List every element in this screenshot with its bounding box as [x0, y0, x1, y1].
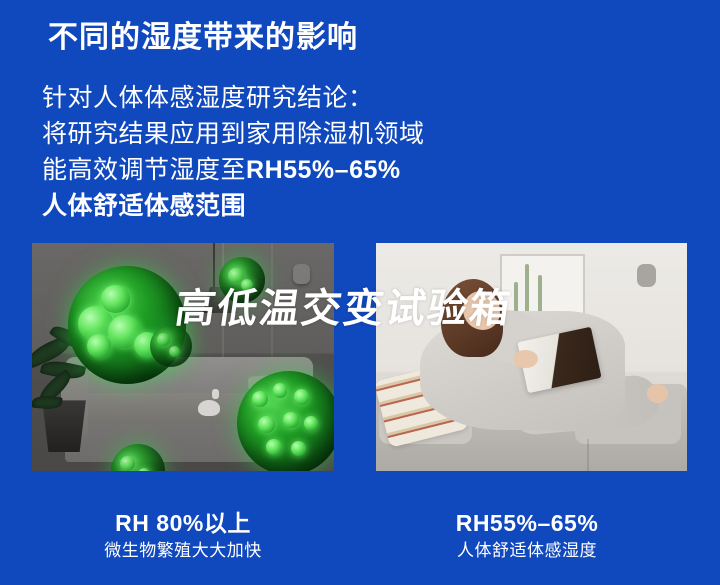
body-copy-line-3: 能高效调节湿度至RH55%–65%: [42, 152, 425, 188]
caption-right-title: RH55%–65%: [376, 508, 678, 538]
woman-face-shape: [463, 291, 500, 330]
wall-knob-icon: [293, 264, 310, 284]
caption-right: RH55%–65% 人体舒适体感湿度: [376, 508, 678, 564]
caption-left: RH 80%以上 微生物繁殖大大加快: [32, 508, 334, 564]
microbe-sphere-icon: [237, 371, 334, 471]
woman-foot-shape: [647, 384, 669, 402]
photo-right-comfort-humidity: [376, 243, 687, 471]
body-copy-line-2: 将研究结果应用到家用除湿机领域: [42, 116, 425, 152]
sofa-seam-shape: [587, 439, 589, 471]
pendant-lamp-cord-icon: [213, 243, 215, 291]
caption-left-title: RH 80%以上: [32, 508, 334, 538]
wall-knob-icon: [637, 264, 656, 287]
microbe-sphere-icon: [219, 257, 265, 303]
caption-left-subtitle: 微生物繁殖大大加快: [32, 538, 334, 564]
microbe-sphere-icon: [150, 325, 192, 367]
body-copy-line-1: 针对人体体感湿度研究结论：: [42, 80, 425, 116]
page-title: 不同的湿度带来的影响: [48, 18, 358, 58]
woman-hand-shape: [513, 350, 538, 368]
vase-neck-icon: [212, 389, 219, 399]
vase-icon: [198, 400, 220, 416]
body-copy-line-3-prefix: 能高效调节湿度至: [42, 156, 246, 184]
wall-seam-secondary-icon: [271, 243, 273, 362]
dark-living-room-scene: [32, 243, 334, 471]
body-copy-line-4: 人体舒适体感范围: [42, 188, 425, 224]
body-copy-line-3-emphasis: RH55%–65%: [246, 156, 401, 184]
bright-living-room-scene: [376, 243, 687, 471]
body-copy: 针对人体体感湿度研究结论： 将研究结果应用到家用除湿机领域 能高效调节湿度至RH…: [42, 80, 425, 224]
caption-right-subtitle: 人体舒适体感湿度: [376, 538, 678, 564]
photo-left-high-humidity: [32, 243, 334, 471]
infographic-page: 不同的湿度带来的影响 针对人体体感湿度研究结论： 将研究结果应用到家用除湿机领域…: [0, 0, 720, 585]
